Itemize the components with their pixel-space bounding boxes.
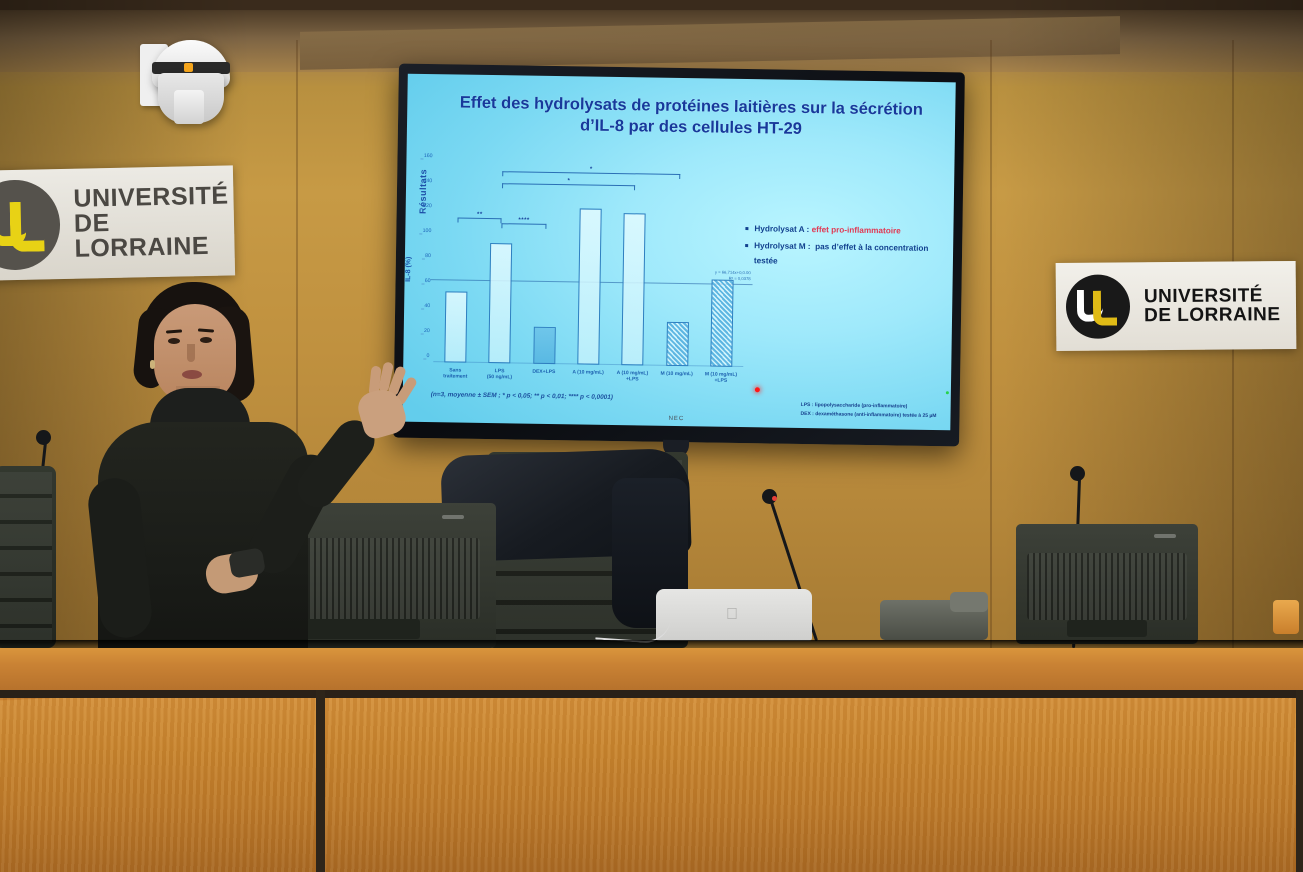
bullet-highlight: effet pro-inflammatoire [812, 225, 901, 235]
ul-monogram-l [1093, 291, 1117, 326]
display-power-led [946, 391, 949, 394]
significance-bracket: **** [502, 223, 546, 229]
y-axis-tick: 40 [424, 303, 430, 309]
desk-object-right [1273, 600, 1299, 634]
monitor-vent [1027, 553, 1187, 620]
x-axis-label: M (10 mg/mL) +LPS [698, 371, 744, 384]
bar-chart: IL-8 (%) 020406080100120140160 Sans trai… [433, 162, 746, 367]
y-axis-tick-mark [420, 183, 423, 184]
y-axis-tick: 120 [423, 203, 432, 209]
y-axis-tick: 100 [423, 228, 432, 234]
x-axis-label: LPS (50 ng/mL) [476, 368, 522, 381]
display-brand-label: NEC [669, 416, 685, 422]
presentation-display: Effet des hydrolysats de protéines laiti… [393, 64, 965, 447]
bar-item: M (10 mg/mL) [658, 166, 698, 367]
slide-footnote: (n=3, moyenne ± SEM ; * p < 0,05; ** p <… [431, 391, 613, 401]
x-axis-label: A (10 mg/mL) [565, 369, 611, 376]
y-axis-tick: 0 [426, 353, 429, 359]
chair-left [0, 466, 56, 648]
y-axis-tick-mark [422, 283, 425, 284]
y-axis-tick: 80 [425, 253, 431, 259]
bullet-dot-icon [745, 227, 748, 230]
significance-label: ** [477, 212, 483, 218]
bar-item: Sans traitement [437, 162, 477, 363]
significance-label: **** [518, 217, 529, 223]
bar [622, 213, 646, 366]
bar-series: Sans traitementLPS (50 ng/mL)DEX+LPSA (1… [433, 162, 746, 367]
y-axis-tick: 140 [423, 178, 432, 184]
y-axis-tick-mark [420, 233, 423, 234]
bar-item: A (10 mg/mL) [570, 164, 610, 365]
y-axis-tick: 20 [424, 328, 430, 334]
bullet-lead: Hydrolysat M : [754, 241, 811, 251]
bullet-text: Hydrolysat A : effet pro-inflammatoire [754, 221, 901, 238]
significance-label: * [590, 166, 593, 172]
list-item: Hydrolysat A : effet pro-inflammatoire [745, 221, 950, 239]
y-axis-tick-mark [420, 208, 423, 209]
bar-item: A (10 mg/mL) +LPS [614, 165, 654, 366]
bullet-text: Hydrolysat M : pas d’effet à la concentr… [754, 238, 950, 271]
ul-logo-icon [0, 179, 61, 271]
bar [444, 291, 467, 363]
monitor-badge [1154, 534, 1176, 538]
trend-annotation: y = 66,714x+0,0.00 R² = 0,0378 [715, 269, 751, 281]
presenter-earring [150, 360, 155, 369]
x-axis-label: DEX+LPS [521, 369, 567, 376]
x-axis-label: A (10 mg/mL) +LPS [609, 370, 655, 383]
y-axis-label: IL-8 (%) [405, 257, 412, 282]
presenter-nose [187, 344, 195, 362]
ul-monogram-l [10, 201, 45, 252]
bar-item: LPS (50 ng/mL) [481, 163, 521, 364]
university-sign-left-text: UNIVERSITÉ DE LORRAINE [73, 183, 235, 261]
bar [577, 208, 601, 365]
ul-logo-icon [1066, 274, 1131, 339]
presenter-mouth [182, 370, 202, 379]
presenter [88, 282, 418, 652]
laser-pointer-dot [755, 387, 760, 392]
significance-bracket: ** [458, 218, 502, 224]
desk-front-panel [0, 698, 1303, 872]
desk-surface [0, 648, 1303, 690]
y-axis-tick-mark [423, 358, 426, 359]
x-axis-label: Sans traitement [432, 367, 478, 380]
apple-logo-icon:  [726, 607, 742, 625]
bullet-lead: Hydrolysat A : [754, 224, 809, 234]
presenter-eye [168, 338, 180, 344]
camera-status-led [184, 63, 193, 72]
university-sign-right: UNIVERSITÉ DE LORRAINE [1056, 261, 1297, 351]
front-desk [0, 640, 1303, 872]
wall-seam [990, 40, 992, 660]
bar-item: DEX+LPS [525, 164, 565, 365]
sign-line-2: DE LORRAINE [1144, 305, 1281, 325]
monitor-badge [442, 515, 464, 519]
sign-line-1: UNIVERSITÉ [73, 183, 233, 211]
x-axis-label: M (10 mg/mL) [654, 371, 700, 378]
bar [710, 279, 733, 367]
bar [533, 326, 556, 364]
bar-item: M (10 mg/mL) +LPS [702, 166, 742, 367]
significance-label: * [568, 178, 571, 184]
phone-handset [950, 592, 988, 612]
university-sign-left: UNIVERSITÉ DE LORRAINE [0, 165, 235, 280]
y-axis-tick-mark [421, 333, 424, 334]
desk-wood-grain [0, 698, 1303, 872]
slide-title: Effet des hydrolysats de protéines laiti… [457, 93, 926, 142]
display-bezel: Effet des hydrolysats de protéines laiti… [393, 64, 965, 447]
lecture-hall-photo: UNIVERSITÉ DE LORRAINE UNIVERSITÉ DE LOR… [0, 0, 1303, 872]
y-axis-tick-mark [421, 308, 424, 309]
desk-divider [1296, 690, 1303, 872]
y-axis-tick-mark [421, 158, 424, 159]
university-sign-right-text: UNIVERSITÉ DE LORRAINE [1144, 286, 1281, 325]
bar [666, 322, 689, 366]
abbreviation-legend: LPS : lipopolysaccharide (pro-inflammato… [800, 401, 936, 420]
sign-line-2: DE LORRAINE [74, 208, 235, 261]
secondary-monitor [1016, 524, 1198, 644]
monitor-stand-notch [1067, 620, 1147, 637]
sign-line-1: UNIVERSITÉ [1144, 286, 1281, 306]
camera-lens-icon [174, 90, 204, 124]
display-screen: Effet des hydrolysats de protéines laiti… [402, 74, 955, 431]
mic-status-led [772, 496, 777, 501]
bullet-dot-icon [745, 244, 748, 247]
desk-divider [316, 690, 325, 872]
slide: Effet des hydrolysats de protéines laiti… [402, 74, 955, 431]
laptop:  [656, 589, 812, 641]
bar [489, 243, 513, 363]
slide-bullets: Hydrolysat A : effet pro-inflammatoire H… [745, 221, 951, 274]
y-axis-tick-mark [422, 258, 425, 259]
list-item: Hydrolysat M : pas d’effet à la concentr… [745, 238, 950, 272]
presenter-eye [200, 337, 212, 343]
y-axis-tick: 160 [424, 153, 433, 159]
